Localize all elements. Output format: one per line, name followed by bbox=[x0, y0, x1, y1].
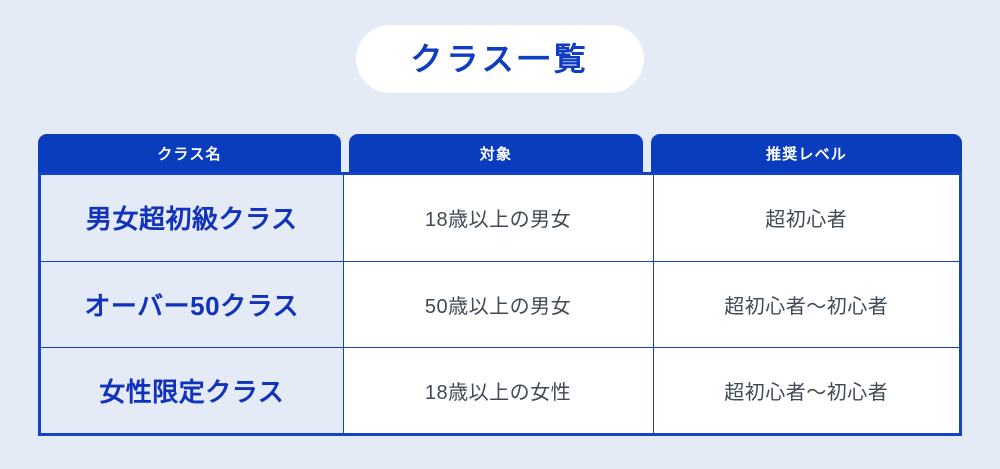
cell-target: 18歳以上の女性 bbox=[343, 347, 653, 433]
column-header-class-name: クラス名 bbox=[38, 134, 341, 174]
cell-target: 50歳以上の男女 bbox=[343, 261, 653, 347]
cell-target: 18歳以上の男女 bbox=[343, 175, 653, 261]
page-title-pill: クラス一覧 bbox=[356, 25, 644, 93]
cell-level: 超初心者〜初心者 bbox=[653, 347, 959, 433]
table-row: 男女超初級クラス 18歳以上の男女 超初心者 bbox=[41, 175, 959, 261]
class-list-page: クラス一覧 クラス名 対象 推奨レベル 男女超初級クラス 18歳以上の男女 超初… bbox=[0, 0, 1000, 469]
class-table-container: 男女超初級クラス 18歳以上の男女 超初心者 オーバー50クラス 50歳以上の男… bbox=[38, 172, 962, 436]
table-header-tabs: クラス名 対象 推奨レベル bbox=[38, 134, 962, 174]
table-row: オーバー50クラス 50歳以上の男女 超初心者〜初心者 bbox=[41, 261, 959, 347]
class-table: 男女超初級クラス 18歳以上の男女 超初心者 オーバー50クラス 50歳以上の男… bbox=[41, 175, 959, 433]
column-header-target: 対象 bbox=[349, 134, 643, 174]
column-header-label: 対象 bbox=[480, 147, 512, 162]
table-row: 女性限定クラス 18歳以上の女性 超初心者〜初心者 bbox=[41, 347, 959, 433]
cell-class-name: 男女超初級クラス bbox=[41, 175, 343, 261]
cell-level: 超初心者〜初心者 bbox=[653, 261, 959, 347]
page-title: クラス一覧 bbox=[410, 43, 589, 75]
column-header-label: クラス名 bbox=[157, 147, 222, 162]
cell-level: 超初心者 bbox=[653, 175, 959, 261]
column-header-label: 推奨レベル bbox=[766, 147, 847, 162]
column-header-level: 推奨レベル bbox=[651, 134, 962, 174]
cell-class-name: 女性限定クラス bbox=[41, 347, 343, 433]
cell-class-name: オーバー50クラス bbox=[41, 261, 343, 347]
